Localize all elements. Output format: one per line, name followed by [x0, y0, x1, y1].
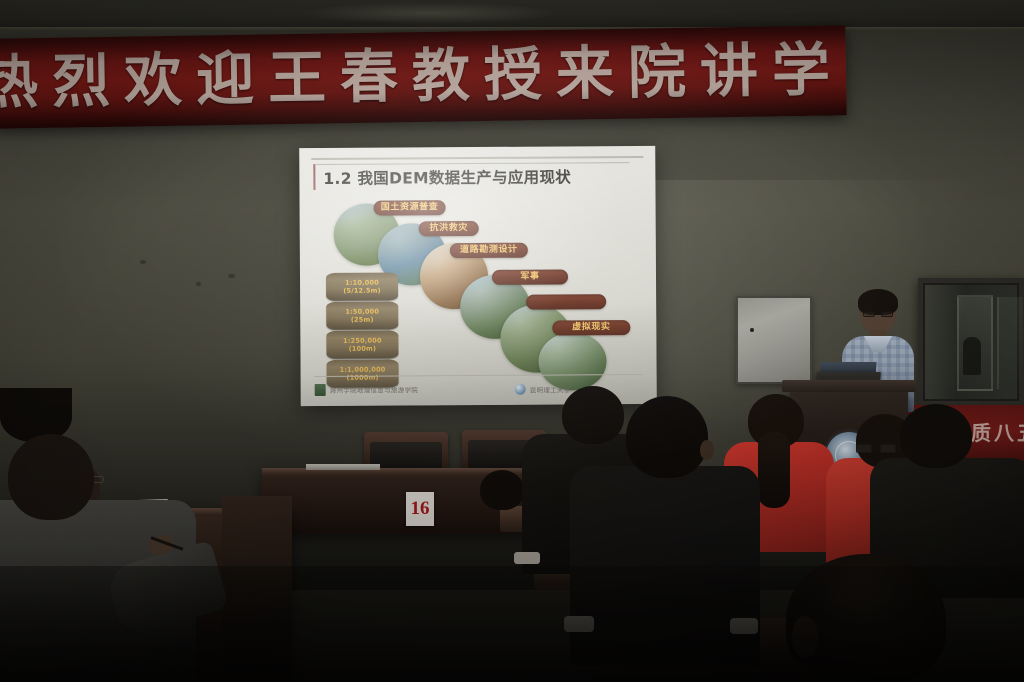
- slide-pill-1: 国土资源普查: [374, 200, 446, 215]
- audience-head: [480, 470, 524, 510]
- figure-reflection: [963, 337, 981, 375]
- audience-torso: [570, 466, 760, 666]
- slide-pill-5: [526, 294, 606, 309]
- welcome-banner-text: 热烈欢迎王春教授来院讲学: [0, 33, 840, 118]
- welcome-banner: 热烈欢迎王春教授来院讲学: [0, 25, 847, 128]
- audience-head: [900, 404, 972, 468]
- slide-resolution-stack: 1:10,000 (5/12.5m) 1:50,000 (25m) 1:250,…: [326, 272, 399, 388]
- audience-member-foreground: [786, 554, 996, 682]
- cylinder-resolution: (100m): [349, 345, 377, 354]
- slide-footer-left: 滁州学院地理信息与旅游学院: [315, 383, 418, 396]
- desk-papers: [306, 464, 380, 470]
- whiteboard-magnet-icon: [750, 328, 754, 332]
- row-number-card: 16: [406, 492, 434, 526]
- resolution-cylinder: 1:10,000 (5/12.5m): [326, 272, 398, 300]
- audience-ear: [792, 616, 818, 658]
- wall-blemish: [140, 260, 146, 264]
- cylinder-scale: 1:10,000: [345, 278, 379, 287]
- whiteboard: [736, 296, 812, 384]
- presenter-glasses-icon: [863, 311, 893, 317]
- slide-pill-3: 道路勘测设计: [450, 243, 528, 258]
- slide-top-rule: [311, 156, 643, 160]
- slide-pill-4: 军事: [492, 269, 568, 284]
- cylinder-scale: 1:1,000,000: [340, 365, 386, 374]
- window-reflection: [997, 297, 1023, 389]
- wall-blemish: [196, 282, 201, 286]
- cylinder-resolution: (25m): [351, 316, 374, 325]
- lecture-hall-photo: 热烈欢迎王春教授来院讲学 1.2 我国DEM数据生产与应用现状 国土资源普查 抗…: [0, 0, 1024, 682]
- audience-member-black-coat: [570, 396, 760, 656]
- resolution-cylinder: 1:250,000 (100m): [326, 330, 398, 358]
- audience-ear: [700, 440, 714, 460]
- audience-member-grey-jacket: [0, 420, 230, 682]
- audience-head: [626, 396, 708, 478]
- shirt-cuff: [564, 616, 594, 632]
- row-number-text: 16: [411, 498, 430, 520]
- podium-top-surface: [782, 380, 916, 392]
- ponytail: [758, 432, 790, 508]
- slide-footer-left-text: 滁州学院地理信息与旅游学院: [330, 384, 418, 395]
- wall-blemish: [228, 274, 235, 278]
- cylinder-scale: 1:50,000: [345, 307, 379, 316]
- chair-seat-pad: [370, 442, 442, 470]
- shirt-cuff: [730, 618, 758, 634]
- ceiling-stain: [300, 2, 560, 24]
- shirt-cuff: [514, 552, 540, 564]
- cylinder-scale: 1:250,000: [343, 336, 382, 345]
- slide-pill-2: 抗洪救灾: [419, 221, 479, 236]
- cylinder-resolution: (5/12.5m): [343, 287, 381, 296]
- wall-television: [918, 278, 1024, 406]
- slide-title: 1.2 我国DEM数据生产与应用现状: [313, 162, 629, 190]
- slide-pill-6: 虚拟现实: [552, 320, 630, 335]
- audience-head: [8, 434, 94, 520]
- television-screen: [925, 285, 1017, 399]
- left-desk-secondary: [222, 496, 292, 682]
- projection-screen: 1.2 我国DEM数据生产与应用现状 国土资源普查 抗洪救灾 道路勘测设计 军事…: [299, 146, 657, 406]
- resolution-cylinder: 1:50,000 (25m): [326, 301, 398, 329]
- slide-surface: 1.2 我国DEM数据生产与应用现状 国土资源普查 抗洪救灾 道路勘测设计 军事…: [299, 146, 657, 406]
- university-logo-icon: [315, 384, 326, 396]
